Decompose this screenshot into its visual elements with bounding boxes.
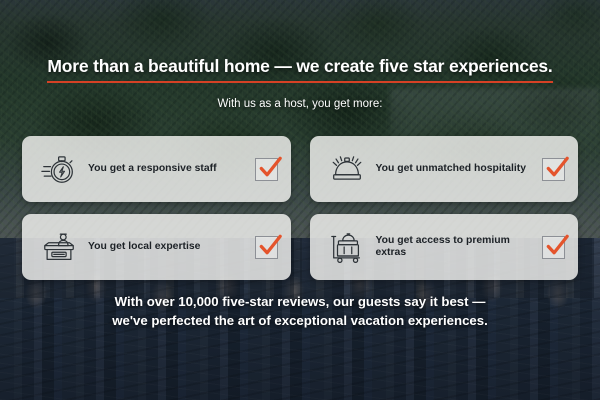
benefit-card-unmatched-hospitality[interactable]: You get unmatched hospitality: [310, 136, 579, 202]
benefit-card-local-expertise[interactable]: You get local expertise: [22, 214, 291, 280]
content-layer: More than a beautiful home — we create f…: [0, 0, 600, 400]
footer-line-1: With over 10,000 five-star reviews, our …: [0, 292, 600, 311]
page-title: More than a beautiful home — we create f…: [47, 56, 552, 83]
promo-graphic: More than a beautiful home — we create f…: [0, 0, 600, 400]
footer-line-2: we've perfected the art of exceptional v…: [0, 311, 600, 330]
benefit-card-label: You get local expertise: [80, 241, 255, 253]
reception-desk-icon: [38, 226, 80, 268]
benefit-card-responsive-staff[interactable]: You get a responsive staff: [22, 136, 291, 202]
footer-suffix: five-star reviews, our guests say it bes…: [219, 294, 486, 309]
benefit-card-grid: You get a responsive staff: [22, 136, 578, 280]
benefit-card-label: You get a responsive staff: [80, 163, 255, 175]
service-bell-icon: [326, 148, 368, 190]
checkbox-checked[interactable]: [255, 158, 278, 181]
subtitle: With us as a host, you get more:: [0, 98, 600, 110]
review-count: 10,000: [178, 294, 218, 309]
footer-statement: With over 10,000 five-star reviews, our …: [0, 292, 600, 330]
checkbox-checked[interactable]: [542, 236, 565, 259]
benefit-card-label: You get unmatched hospitality: [368, 163, 543, 175]
footer-prefix: With over: [115, 294, 179, 309]
benefit-card-label: You get access to premium extras: [368, 235, 543, 260]
luggage-cart-icon: [326, 226, 368, 268]
stopwatch-icon: [38, 148, 80, 190]
checkbox-checked[interactable]: [255, 236, 278, 259]
checkbox-checked[interactable]: [542, 158, 565, 181]
benefit-card-premium-extras[interactable]: You get access to premium extras: [310, 214, 579, 280]
headline-container: More than a beautiful home — we create f…: [0, 56, 600, 83]
